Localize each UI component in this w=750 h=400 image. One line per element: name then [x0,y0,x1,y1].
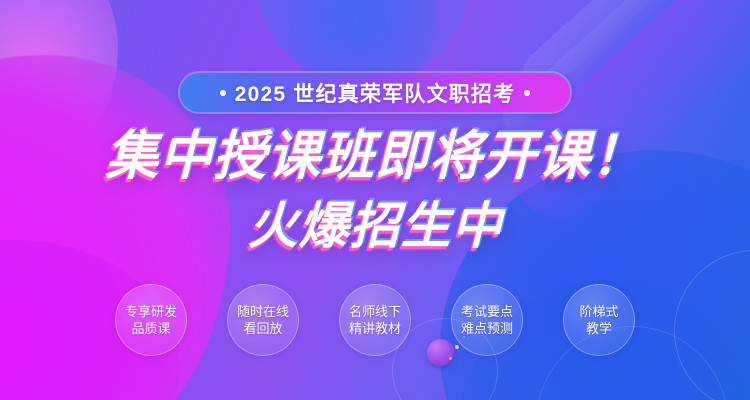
feature-badge[interactable]: 名师线下 精讲教材 [339,284,411,356]
headline-line-1: 集中授课班即将开课！ [0,126,750,188]
feature-badge-line-2: 难点预测 [461,321,513,337]
banner-content: 2025 世纪真荣军队文职招考 集中授课班即将开课！ 火爆招生中 专享研发 品质… [0,0,750,400]
feature-badge-line-1: 随时在线 [237,304,289,320]
feature-badge-line-1: 阶梯式 [579,304,618,320]
bullet-dot-right-icon [524,90,530,96]
eyebrow-text: 2025 世纪真荣军队文职招考 [235,78,516,108]
feature-badge-line-2: 看回放 [243,321,282,337]
headline-line-2: 火爆招生中 [0,196,750,256]
feature-badge-line-1: 考试要点 [461,304,513,320]
feature-badge-line-2: 教学 [586,321,612,337]
promo-banner: 2025 世纪真荣军队文职招考 集中授课班即将开课！ 火爆招生中 专享研发 品质… [0,0,750,400]
feature-badge-line-2: 品质课 [131,321,170,337]
eyebrow-pill: 2025 世纪真荣军队文职招考 [180,73,570,112]
feature-badge-line-1: 名师线下 [349,304,401,320]
feature-badge-line-2: 精讲教材 [349,321,401,337]
feature-badge-line-1: 专享研发 [125,304,177,320]
feature-badge[interactable]: 专享研发 品质课 [115,284,187,356]
feature-badge[interactable]: 考试要点 难点预测 [451,284,523,356]
feature-badge[interactable]: 随时在线 看回放 [227,284,299,356]
bullet-dot-left-icon [220,90,226,96]
feature-badge-row: 专享研发 品质课 随时在线 看回放 名师线下 精讲教材 考试要点 难点预测 阶梯… [0,284,750,356]
feature-badge[interactable]: 阶梯式 教学 [563,284,635,356]
